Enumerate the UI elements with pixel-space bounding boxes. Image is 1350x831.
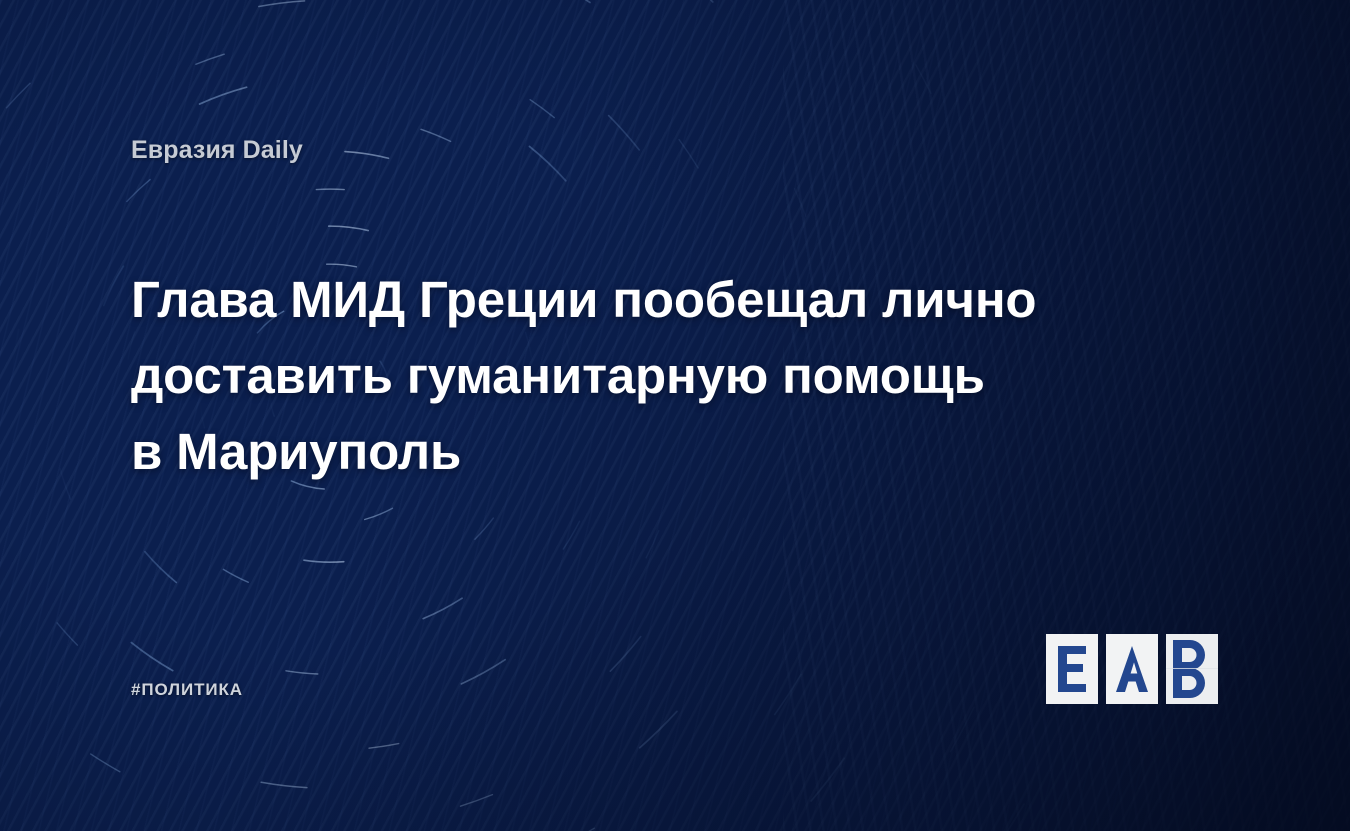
page-title: Глава МИД Греции пообещал лично доставит… [131, 262, 1121, 490]
news-card: Евразия Daily Глава МИД Греции пообещал … [0, 0, 1350, 831]
category-tag[interactable]: #ПОЛИТИКА [131, 680, 243, 700]
headline-line-2: доставить гуманитарную помощь [131, 338, 1121, 414]
headline-line-3: в Мариуполь [131, 414, 1121, 490]
eadaily-logo[interactable] [1046, 634, 1218, 704]
headline-line-1: Глава МИД Греции пообещал лично [131, 262, 1121, 338]
brand-name: Евразия Daily [131, 136, 303, 165]
